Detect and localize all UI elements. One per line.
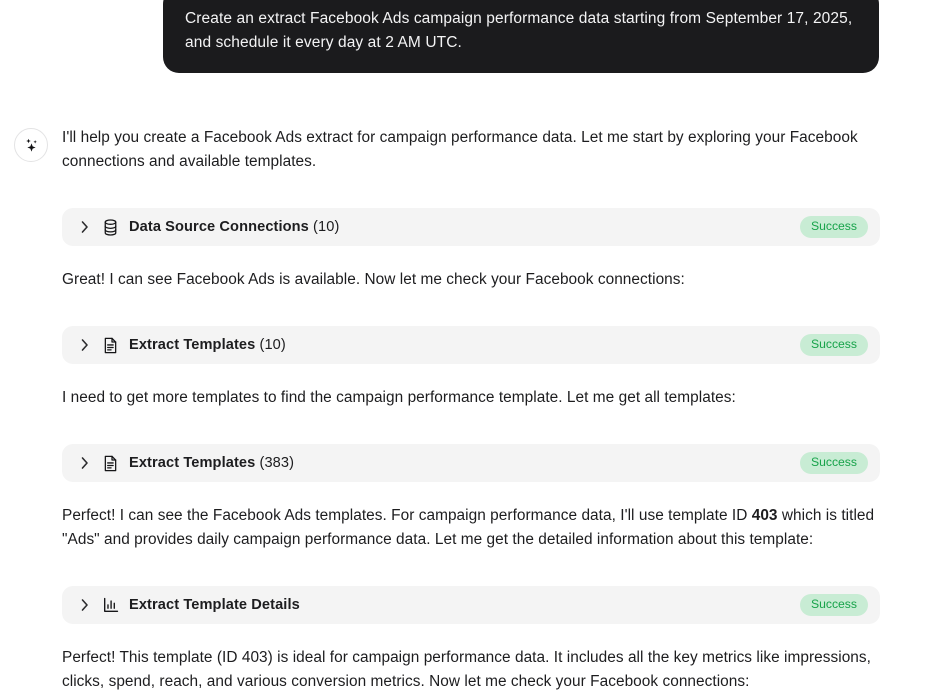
tool-call-name: Extract Templates <box>129 337 255 353</box>
tool-call-count: (383) <box>260 455 295 471</box>
assistant-paragraph: I'll help you create a Facebook Ads extr… <box>62 126 880 174</box>
tool-call-label: Extract Templates (10) <box>129 337 286 353</box>
tool-call-label: Data Source Connections (10) <box>129 219 339 235</box>
tool-call-count: (10) <box>313 219 339 235</box>
template-id-bold: 403 <box>752 507 778 524</box>
tool-call-data-source-connections[interactable]: Data Source Connections (10) Success <box>62 208 880 246</box>
tool-call-name: Extract Templates <box>129 455 255 471</box>
chevron-right-icon[interactable] <box>78 598 92 612</box>
tool-call-extract-templates-383[interactable]: Extract Templates (383) Success <box>62 444 880 482</box>
user-message-row: Create an extract Facebook Ads campaign … <box>0 0 928 73</box>
tool-call-extract-template-details[interactable]: Extract Template Details Success <box>62 586 880 624</box>
assistant-paragraph: Great! I can see Facebook Ads is availab… <box>62 268 880 292</box>
assistant-paragraph: I need to get more templates to find the… <box>62 386 880 410</box>
tool-call-label: Extract Template Details <box>129 597 300 613</box>
status-badge: Success <box>800 216 868 237</box>
tool-call-extract-templates-10[interactable]: Extract Templates (10) Success <box>62 326 880 364</box>
file-text-icon <box>102 455 119 472</box>
assistant-avatar <box>14 128 48 162</box>
status-badge: Success <box>800 452 868 473</box>
chat-page: Create an extract Facebook Ads campaign … <box>0 0 928 699</box>
assistant-paragraph: Perfect! I can see the Facebook Ads temp… <box>62 504 880 552</box>
tool-call-count: (10) <box>260 337 286 353</box>
paragraph-text-before: Perfect! I can see the Facebook Ads temp… <box>62 507 752 524</box>
database-icon <box>102 219 119 236</box>
bar-chart-icon <box>102 597 119 614</box>
tool-call-name: Data Source Connections <box>129 219 309 235</box>
sparkles-icon <box>22 136 41 155</box>
tool-call-label: Extract Templates (383) <box>129 455 294 471</box>
assistant-paragraph: Perfect! This template (ID 403) is ideal… <box>62 646 880 694</box>
chevron-right-icon[interactable] <box>78 456 92 470</box>
file-text-icon <box>102 337 119 354</box>
status-badge: Success <box>800 334 868 355</box>
tool-call-name: Extract Template Details <box>129 597 300 613</box>
chevron-right-icon[interactable] <box>78 220 92 234</box>
status-badge: Success <box>800 594 868 615</box>
user-message-bubble: Create an extract Facebook Ads campaign … <box>163 0 879 73</box>
assistant-body: I'll help you create a Facebook Ads extr… <box>62 126 880 694</box>
chevron-right-icon[interactable] <box>78 338 92 352</box>
assistant-message: I'll help you create a Facebook Ads extr… <box>0 126 928 694</box>
